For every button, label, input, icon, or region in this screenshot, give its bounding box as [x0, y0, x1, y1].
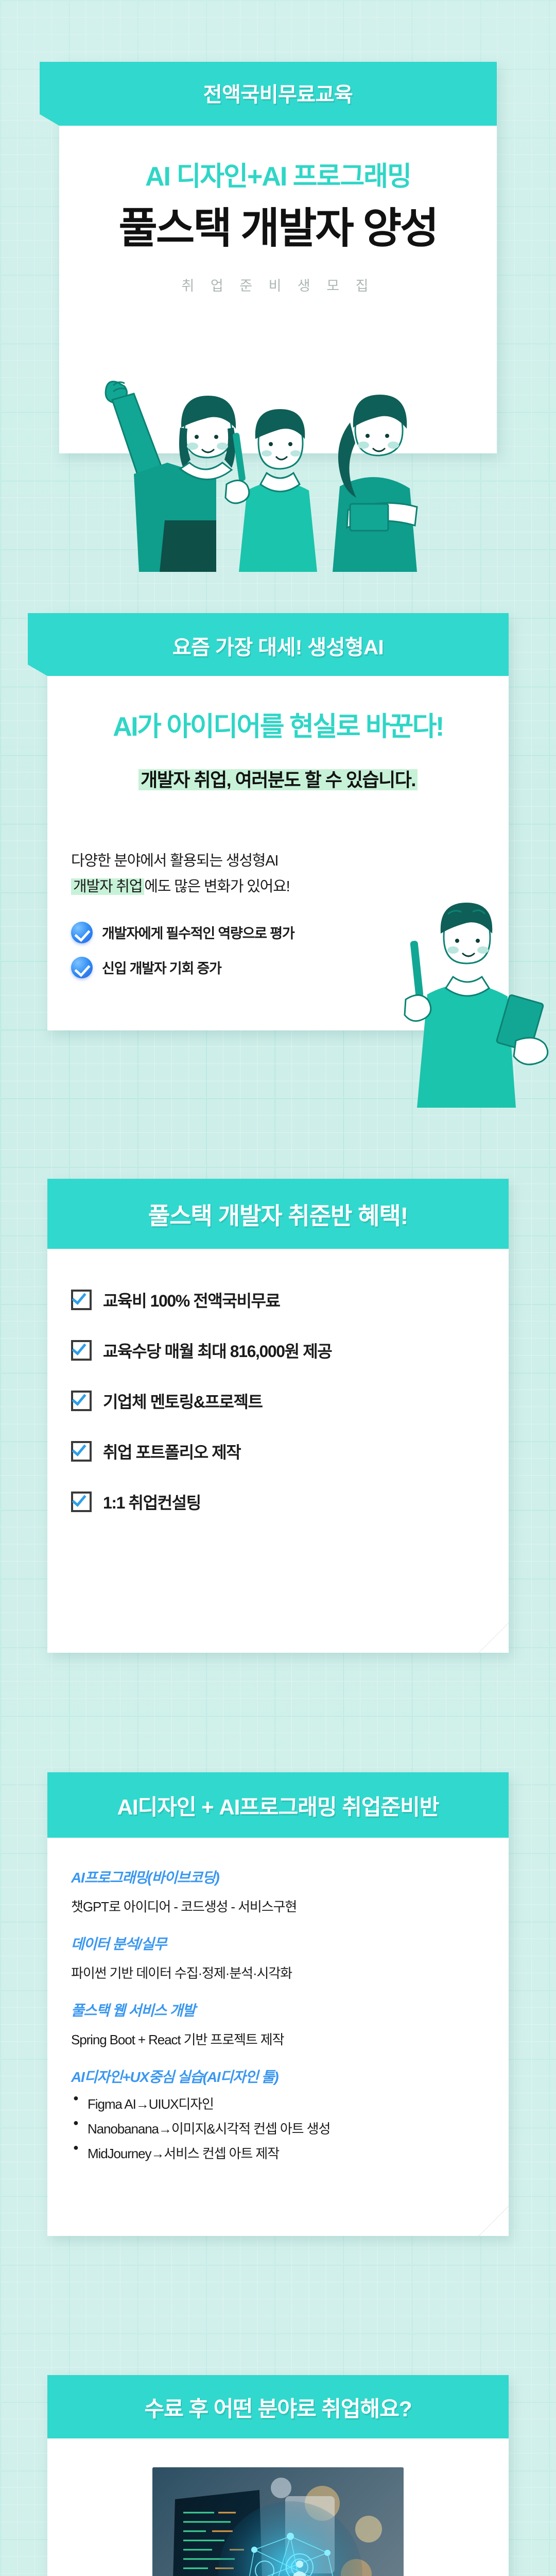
- hero-subtitle: AI 디자인+AI 프로그래밍: [59, 155, 497, 193]
- curriculum-text: 파이썬 기반 데이터 수집·정제·분석·시각화: [71, 1963, 485, 1982]
- hero-ribbon: 전액국비무료교육: [59, 62, 497, 126]
- jobs-section: 수료 후 어떤 분야로 취업해요?: [0, 2375, 556, 2576]
- curriculum-group: 데이터 분석/실무 파이썬 기반 데이터 수집·정제·분석·시각화: [71, 1933, 485, 1982]
- hero-title: 풀스택 개발자 양성: [59, 207, 497, 251]
- jobs-banner: 수료 후 어떤 분야로 취업해요?: [47, 2375, 509, 2438]
- curriculum-section: AI디자인 + AI프로그래밍 취업준비반 AI프로그래밍(바이브코딩) 챗GP…: [0, 1772, 556, 2236]
- jobs-card: 수료 후 어떤 분야로 취업해요?: [47, 2375, 509, 2576]
- benefit-label: 교육비 100% 전액국비무료: [103, 1288, 280, 1312]
- curriculum-group: AI디자인+UX중심 실습(AI디자인 툴) Figma AI→UIUX디자인 …: [71, 2066, 485, 2162]
- check-label: 신입 개발자 기회 증가: [102, 957, 221, 977]
- list-item: 취업 포트폴리오 제작: [71, 1439, 485, 1463]
- list-item: Nanobanana→이미지&시각적 컨셉 아트 생성: [71, 2119, 485, 2138]
- generative-ai-banner: 요즘 가장 대세! 생성형AI: [47, 613, 509, 676]
- list-item: 1:1 취업컨설팅: [71, 1490, 485, 1514]
- hero-body: AI 디자인+AI 프로그래밍 풀스택 개발자 양성 취 업 준 비 생 모 집: [59, 126, 497, 295]
- curriculum-group: 풀스택 웹 서비스 개발 Spring Boot + React 기반 프로젝트…: [71, 1999, 485, 2048]
- benefits-section: 풀스택 개발자 취준반 혜택! 교육비 100% 전액국비무료 교육수당 매월 …: [0, 1179, 556, 1653]
- benefits-card: 풀스택 개발자 취준반 혜택! 교육비 100% 전액국비무료 교육수당 매월 …: [47, 1179, 509, 1653]
- list-item: 교육비 100% 전액국비무료: [71, 1288, 485, 1312]
- benefit-label: 취업 포트폴리오 제작: [103, 1439, 240, 1463]
- list-item: MidJourney→서비스 컨셉 아트 제작: [71, 2143, 485, 2162]
- laptop-ai-network-photo: [152, 2467, 404, 2576]
- curriculum-card: AI디자인 + AI프로그래밍 취업준비반 AI프로그래밍(바이브코딩) 챗GP…: [47, 1772, 509, 2236]
- checkbox-icon: [71, 1340, 92, 1361]
- curriculum-banner: AI디자인 + AI프로그래밍 취업준비반: [47, 1772, 509, 1838]
- list-item: 기업체 멘토링&프로젝트: [71, 1389, 485, 1413]
- photo-content: [152, 2467, 404, 2576]
- benefits-banner: 풀스택 개발자 취준반 혜택!: [47, 1179, 509, 1249]
- list-item: 교육수당 매월 최대 816,000원 제공: [71, 1338, 485, 1362]
- benefits-list: 교육비 100% 전액국비무료 교육수당 매월 최대 816,000원 제공 기…: [47, 1249, 509, 1514]
- checkbox-icon: [71, 1391, 92, 1411]
- list-item: Figma AI→UIUX디자인: [71, 2094, 485, 2113]
- check-circle-icon: [71, 957, 93, 978]
- boy-with-pen-illustration: [381, 876, 551, 1108]
- checkbox-icon: [71, 1290, 92, 1310]
- curriculum-group: AI프로그래밍(바이브코딩) 챗GPT로 아이디어 - 코드생성 - 서비스구현: [71, 1867, 485, 1916]
- checkbox-icon: [71, 1492, 92, 1512]
- generative-ai-subhead: 개발자 취업, 여러분도 할 수 있습니다.: [71, 765, 485, 792]
- poster-page: 전액국비무료교육 AI 디자인+AI 프로그래밍 풀스택 개발자 양성 취 업 …: [0, 0, 556, 2576]
- check-label: 개발자에게 필수적인 역량으로 평가: [102, 922, 294, 942]
- curriculum-bullets: Figma AI→UIUX디자인 Nanobanana→이미지&시각적 컨셉 아…: [71, 2094, 485, 2162]
- three-students-illustration: [62, 355, 494, 572]
- curriculum-heading: AI디자인+UX중심 실습(AI디자인 툴): [71, 2066, 485, 2087]
- benefit-label: 1:1 취업컨설팅: [103, 1490, 201, 1514]
- benefit-label: 교육수당 매월 최대 816,000원 제공: [103, 1338, 332, 1362]
- curriculum-heading: AI프로그래밍(바이브코딩): [71, 1867, 485, 1887]
- generative-ai-headline: AI가 아이디어를 현실로 바꾼다!: [71, 705, 485, 743]
- curriculum-text: 챗GPT로 아이디어 - 코드생성 - 서비스구현: [71, 1896, 485, 1916]
- check-circle-icon: [71, 922, 93, 943]
- curriculum-body: AI프로그래밍(바이브코딩) 챗GPT로 아이디어 - 코드생성 - 서비스구현…: [47, 1838, 509, 2162]
- curriculum-text: Spring Boot + React 기반 프로젝트 제작: [71, 2029, 485, 2048]
- generative-ai-body-line1: 다양한 분야에서 활용되는 생성형AI: [71, 849, 485, 874]
- corner-fold: [479, 1623, 509, 1653]
- curriculum-heading: 풀스택 웹 서비스 개발: [71, 1999, 485, 2020]
- benefit-label: 기업체 멘토링&프로젝트: [103, 1389, 263, 1413]
- checkbox-icon: [71, 1441, 92, 1462]
- corner-fold: [479, 2206, 509, 2236]
- hero-tagline: 취 업 준 비 생 모 집: [59, 275, 497, 295]
- curriculum-heading: 데이터 분석/실무: [71, 1933, 485, 1954]
